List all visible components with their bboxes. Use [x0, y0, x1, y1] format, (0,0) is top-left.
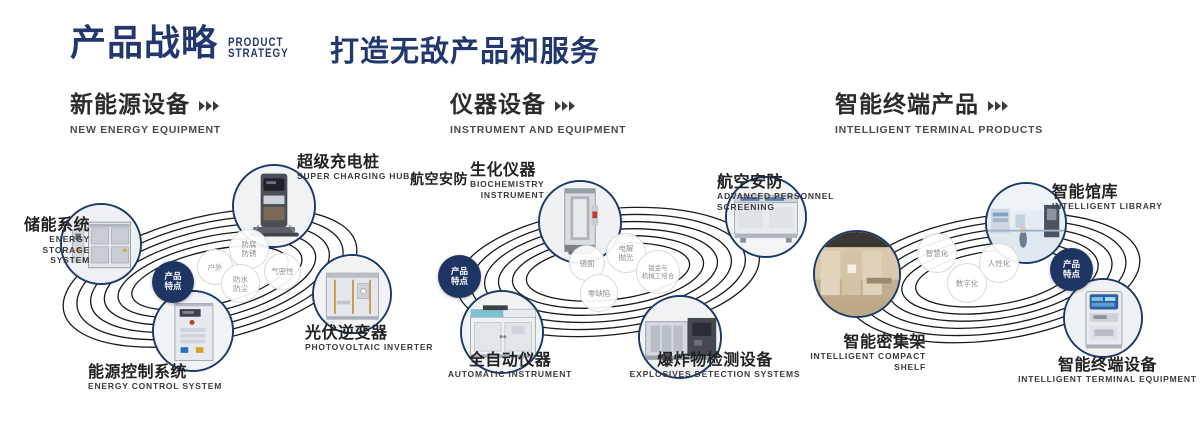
- caption-automatic-instrument: 全自动仪器 AUTOMATIC INSTRUMENT: [430, 350, 590, 380]
- pv-inverter-photo: [314, 256, 390, 332]
- caption-en-line1: ENERGY STORAGE: [0, 234, 90, 255]
- caption-cn: 全自动仪器: [430, 350, 590, 369]
- bubble-line1: 产品: [164, 272, 181, 282]
- chevron-right-icon: [199, 101, 219, 111]
- caption-energy-control-system: 能源控制系统 ENERGY CONTROL SYSTEM: [88, 362, 222, 392]
- page-title-en: PRODUCT STRATEGY: [228, 37, 289, 59]
- caption-intelligent-terminal-equipment: 智能终端设备 INTELLIGENT TERMINAL EQUIPMENT: [1015, 355, 1200, 385]
- node-photovoltaic-inverter[interactable]: [312, 254, 392, 334]
- bubble-feature-anticorrosion[interactable]: 防腐 防锈: [229, 229, 269, 269]
- bubble-line1: 零缺陷: [588, 289, 611, 298]
- section-title-new-energy: 新能源设备 NEW ENERGY EQUIPMENT: [70, 94, 221, 136]
- page-title-en-line2: STRATEGY: [228, 46, 289, 60]
- caption-cn: 能源控制系统: [88, 362, 222, 381]
- section-title-en: INSTRUMENT AND EQUIPMENT: [450, 124, 626, 136]
- bubble-line2: 特点: [1063, 270, 1080, 280]
- chevron-right-icon: [988, 101, 1008, 111]
- bubble-line1: 产品: [1063, 260, 1080, 270]
- caption-cn: 超级充电桩: [297, 152, 410, 171]
- section-title-cn: 智能终端产品: [835, 94, 979, 117]
- bubble-feature-sheetmetal-machining[interactable]: 钣金与 机械工结合: [636, 250, 680, 294]
- caption-en-line2: SHELF: [760, 362, 926, 373]
- chevron-right-icon: [555, 101, 575, 111]
- bubble-feature-humanization[interactable]: 人性化: [979, 243, 1019, 283]
- bubble-line2: 抛光: [619, 253, 634, 262]
- section-title-intelligent-terminal: 智能终端产品 INTELLIGENT TERMINAL PRODUCTS: [835, 94, 1043, 136]
- page-title: 产品战略 PRODUCT STRATEGY: [70, 26, 302, 62]
- self-service-kiosk-photo: [1065, 280, 1141, 356]
- caption-biochemistry-instrument: 生化仪器 BIOCHEMISTRY INSTRUMENT: [470, 160, 544, 200]
- section-title-instrument: 仪器设备 INSTRUMENT AND EQUIPMENT: [450, 94, 626, 136]
- bubble-line1: 户外: [208, 263, 223, 272]
- caption-cn: 智能终端设备: [1015, 355, 1200, 374]
- bubble-feature-airtightness[interactable]: 气密性: [264, 253, 301, 290]
- bubble-line1: 产品: [451, 267, 468, 277]
- bubble-line2: 特点: [164, 282, 181, 292]
- product-strategy-infographic: 产品战略 PRODUCT STRATEGY 打造无敌产品和服务 新能源设备 NE…: [0, 0, 1200, 422]
- caption-en-line1: BIOCHEMISTRY: [470, 179, 544, 190]
- control-cabinet-photo: [154, 292, 232, 370]
- bubble-feature-intelligence[interactable]: 智慧化: [917, 233, 957, 273]
- caption-intelligent-compact-shelf: 智能密集架 INTELLIGENT COMPACT SHELF: [760, 332, 926, 372]
- section-title-cn: 仪器设备: [450, 94, 546, 117]
- node-energy-control-system[interactable]: [152, 290, 234, 372]
- caption-super-charging-hub: 超级充电桩 SUPER CHARGING HUB: [297, 152, 410, 182]
- caption-cn: 生化仪器: [470, 160, 544, 179]
- bubble-line1: 智慧化: [926, 249, 949, 258]
- bubble-line2: 防尘: [233, 284, 248, 293]
- caption-cn: 智能馆库: [1052, 182, 1163, 201]
- caption-cn: 航空安防: [410, 172, 468, 189]
- section-title-en: INTELLIGENT TERMINAL PRODUCTS: [835, 124, 1043, 136]
- caption-en-line2: SYSTEM: [0, 255, 90, 266]
- bubble-feature-waterproof[interactable]: 防水 防尘: [221, 264, 260, 303]
- section-title-cn: 新能源设备: [70, 94, 190, 117]
- bubble-line2: 防锈: [242, 249, 257, 258]
- caption-en-line1: INTELLIGENT TERMINAL EQUIPMENT: [1015, 374, 1200, 385]
- page-title-cn: 产品战略: [70, 26, 218, 62]
- caption-en-line1: ENERGY CONTROL SYSTEM: [88, 381, 222, 392]
- caption-cn: 储能系统: [0, 215, 90, 234]
- bubble-feature-zero-defect[interactable]: 零缺陷: [580, 274, 618, 312]
- caption-intelligent-library: 智能馆库 INTELLIGENT LIBRARY: [1052, 182, 1163, 212]
- bubble-line1: 人性化: [988, 259, 1011, 268]
- bubble-line1: 防腐: [242, 240, 257, 249]
- bubble-line1: 钣金与: [648, 264, 668, 272]
- bubble-core-product-features[interactable]: 产品 特点: [152, 261, 194, 303]
- page-slogan: 打造无敌产品和服务: [330, 37, 600, 66]
- bubble-line1: 数字化: [956, 279, 979, 288]
- bubble-line2: 机械工结合: [642, 272, 675, 280]
- bubble-core-product-features[interactable]: 产品 特点: [438, 255, 481, 298]
- bubble-core-product-features[interactable]: 产品 特点: [1050, 248, 1093, 291]
- caption-en-line2: INSTRUMENT: [470, 190, 544, 201]
- bubble-line1: 电解: [619, 244, 634, 253]
- caption-en-line1: INTELLIGENT COMPACT: [760, 351, 926, 362]
- caption-en-line1: AUTOMATIC INSTRUMENT: [430, 369, 590, 380]
- bubble-line1: 防水: [233, 275, 248, 284]
- caption-aviation-security-left: 航空安防: [410, 172, 468, 189]
- caption-energy-storage-system: 储能系统 ENERGY STORAGE SYSTEM: [0, 215, 90, 266]
- compact-shelf-photo: [815, 232, 899, 316]
- node-intelligent-compact-shelf[interactable]: [813, 230, 901, 318]
- caption-cn: 智能密集架: [760, 332, 926, 351]
- caption-en-line1: INTELLIGENT LIBRARY: [1052, 201, 1163, 212]
- bubble-line2: 特点: [451, 277, 468, 287]
- caption-en-line1: SUPER CHARGING HUB: [297, 171, 410, 182]
- section-title-en: NEW ENERGY EQUIPMENT: [70, 124, 221, 136]
- bubble-line1: 气密性: [271, 267, 294, 276]
- bubble-line1: 镜面: [580, 259, 595, 268]
